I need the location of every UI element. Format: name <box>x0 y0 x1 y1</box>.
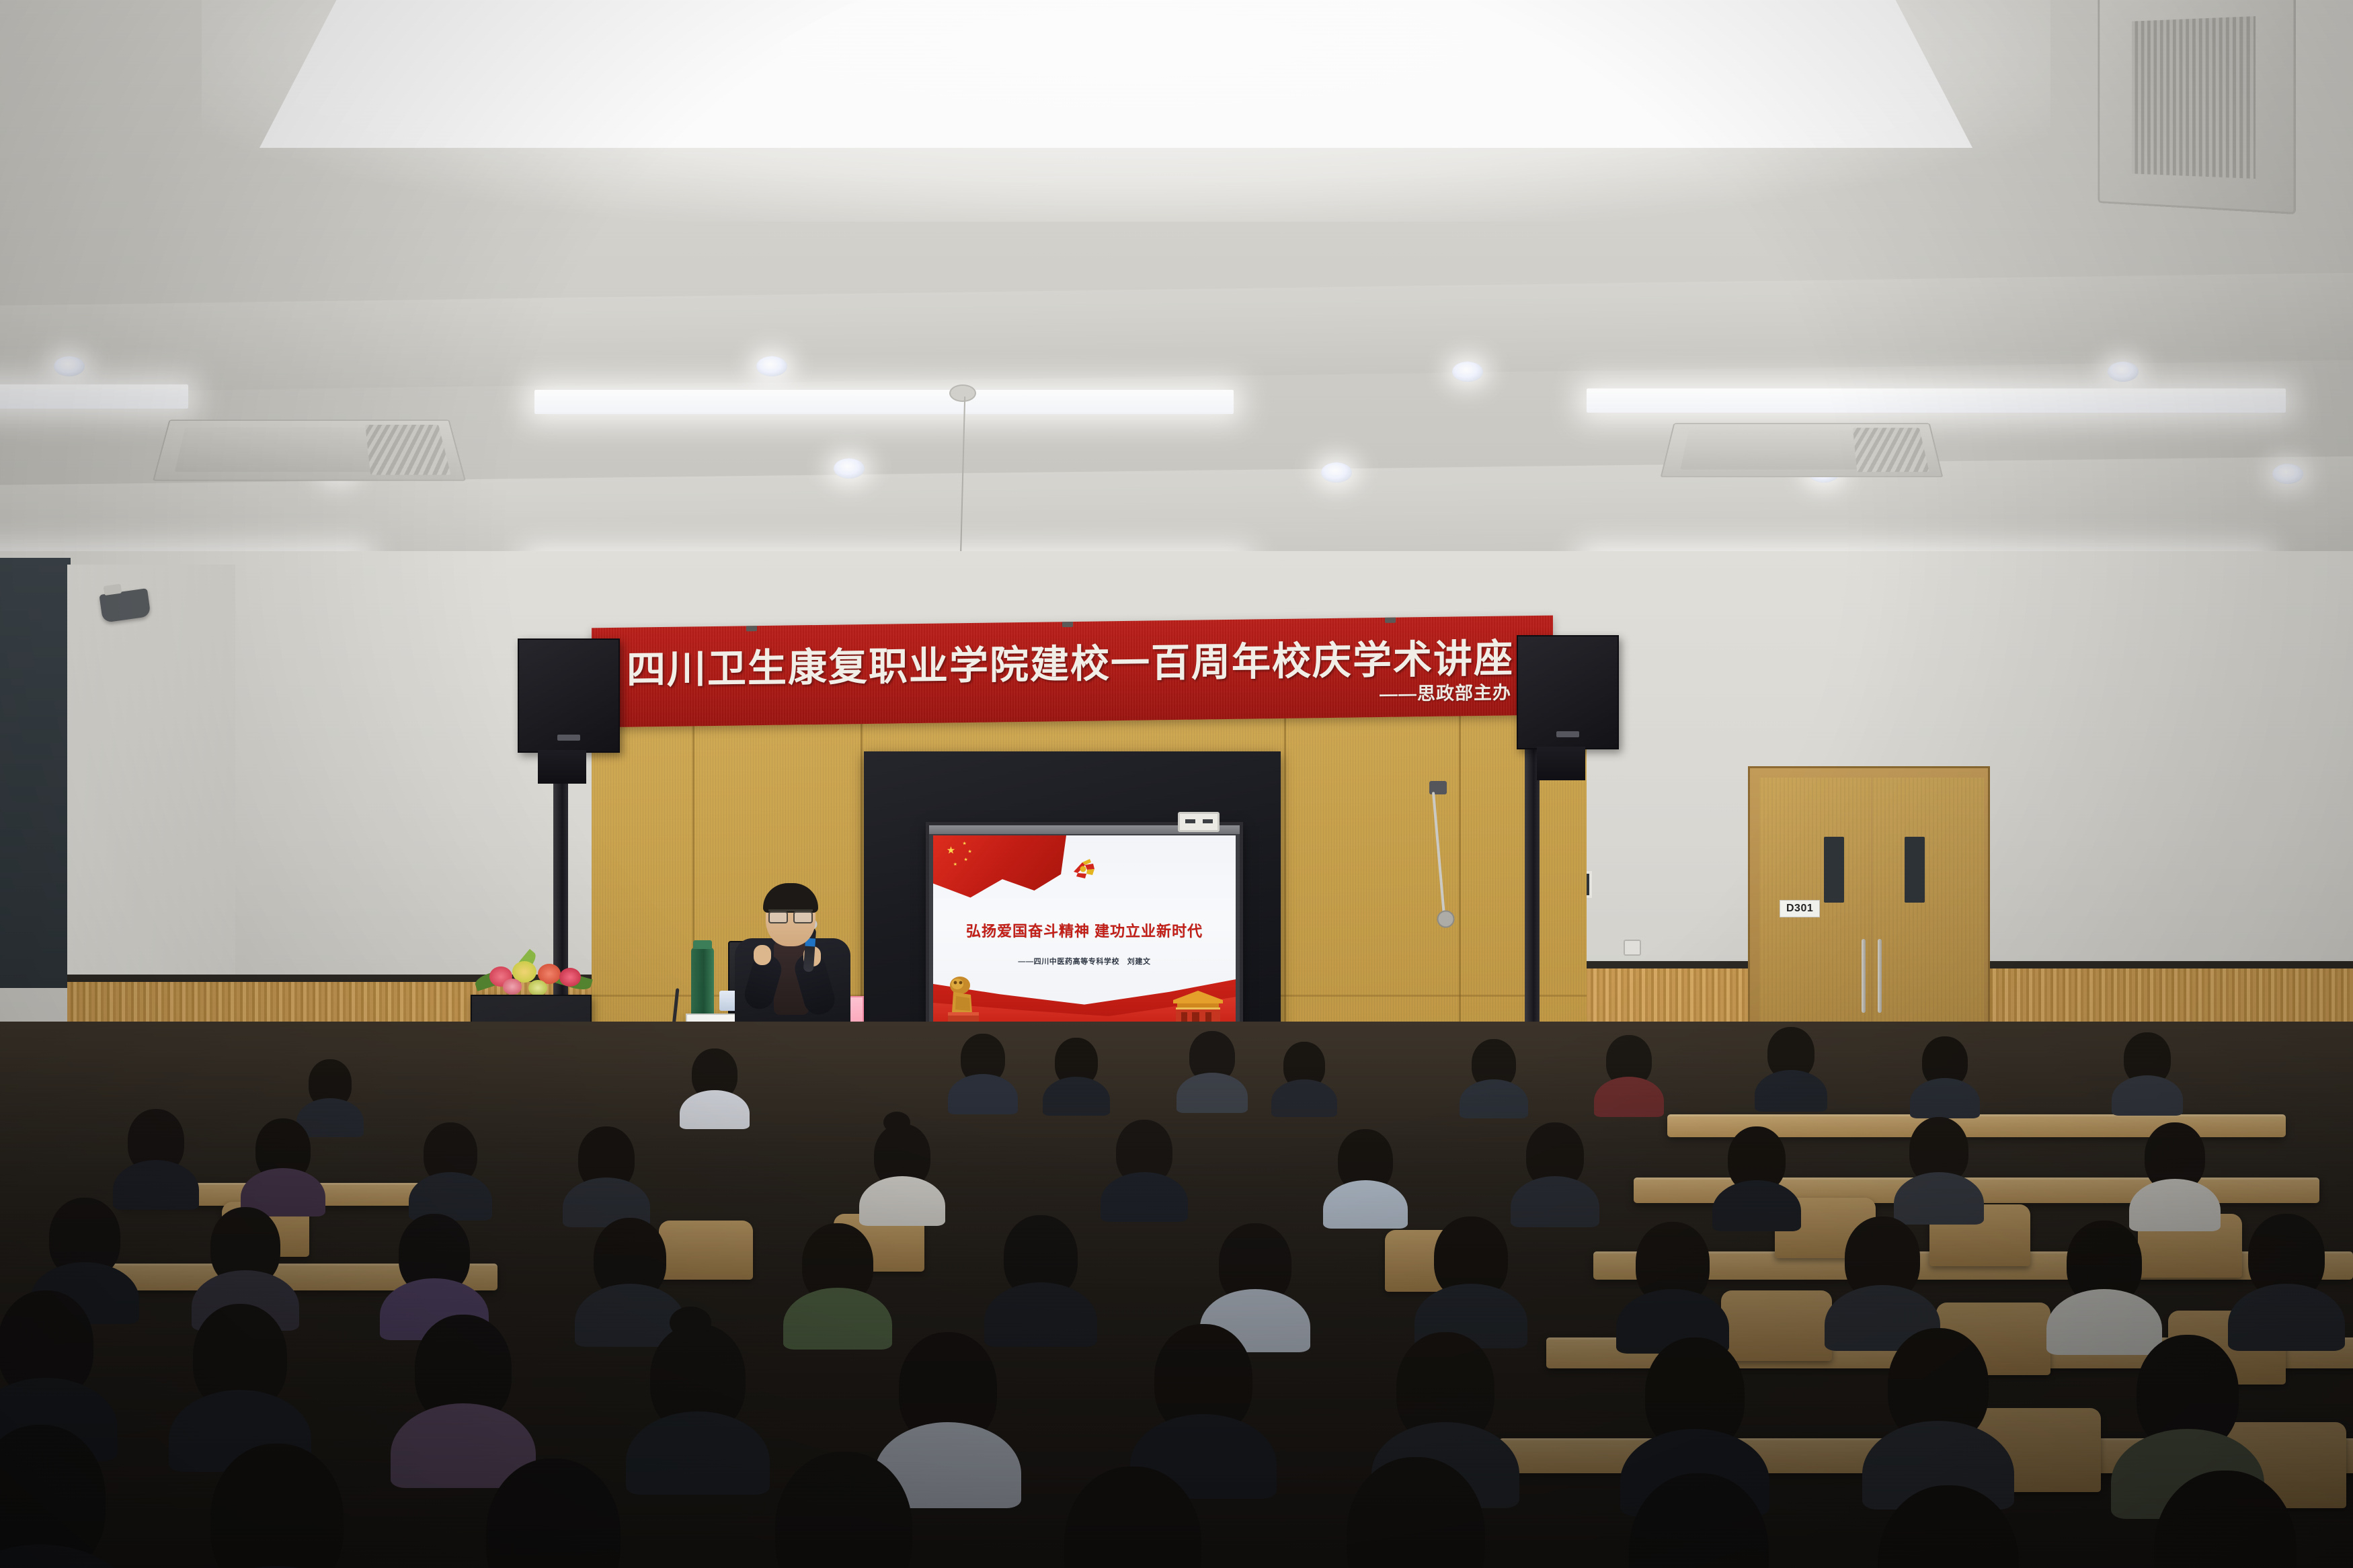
ceiling-downlight <box>2108 362 2139 382</box>
audience-member <box>471 1458 636 1568</box>
ceiling-soffit-band-1 <box>0 272 2353 394</box>
speaker-base <box>538 750 586 784</box>
audience-member <box>1600 1035 1658 1110</box>
flag-star-small: ★ <box>953 862 957 867</box>
door-window-pane <box>1905 837 1925 903</box>
person-shoulders <box>948 1074 1018 1114</box>
slide-title: 弘扬爱国奋斗精神 建功立业新时代 <box>933 919 1236 941</box>
door-handle[interactable] <box>1862 939 1866 1013</box>
flower-blossom <box>528 980 547 996</box>
audience-member <box>195 1444 359 1568</box>
audience-member <box>1903 1117 1975 1215</box>
audience-member <box>1331 1129 1400 1223</box>
audience-member <box>1331 1457 1501 1568</box>
audience-member <box>1049 1467 1217 1568</box>
person-head <box>210 1444 344 1568</box>
audience-member <box>995 1215 1086 1340</box>
ceiling-ac-vent <box>1661 423 1944 477</box>
ceiling-downlight <box>1452 362 1483 382</box>
person-shoulders <box>1323 1180 1408 1229</box>
flower-blossom <box>559 968 581 987</box>
speaker-base <box>1537 747 1585 780</box>
person-shoulders <box>1755 1070 1827 1112</box>
lecture-hall-photograph: 四川卫生康复职业学院建校一百周年校庆学术讲座 ——思政部主办 ★ ★ ★ ★ ★ <box>0 0 2353 1568</box>
person-shoulders <box>680 1090 750 1129</box>
wall-socket <box>1624 940 1641 956</box>
audience-member <box>1862 1485 2034 1568</box>
flag-star-small: ★ <box>967 849 971 854</box>
person-shoulders <box>2112 1075 2183 1116</box>
audience-member <box>1835 1216 1929 1344</box>
audience-member <box>639 1324 757 1487</box>
ac-vent-face <box>1680 430 1862 470</box>
audience-member <box>1109 1120 1179 1215</box>
person-head <box>1629 1473 1769 1568</box>
audience-member <box>2118 1032 2177 1109</box>
audience-member <box>1916 1036 1974 1112</box>
person-shoulders <box>626 1411 770 1495</box>
ceiling-light-strip <box>534 390 1234 414</box>
ceiling-ac-unit-top-right <box>2098 0 2296 214</box>
ac-vent-louvre <box>1853 428 1929 472</box>
audience-member <box>1519 1122 1591 1219</box>
audience-member <box>1143 1324 1264 1489</box>
presentation-slide: ★ ★ ★ ★ ★ 弘扬爱国奋斗精神 建功立业新时代 ——四川中医药高等专科学校… <box>933 835 1236 1026</box>
ceiling-downlight <box>834 458 865 479</box>
audience-member <box>1876 1328 2001 1499</box>
audience-member <box>121 1109 191 1203</box>
event-banner: 四川卫生康复职业学院建校一百周年校庆学术讲座 ——思政部主办 <box>592 616 1553 728</box>
audience-member <box>760 1452 928 1568</box>
audience-member <box>1277 1042 1331 1113</box>
speaker-brand-badge <box>557 735 580 741</box>
flag-star-small: ★ <box>963 841 967 846</box>
speaker-brand-badge <box>1556 731 1579 737</box>
projection-screen: ★ ★ ★ ★ ★ 弘扬爱国奋斗精神 建功立业新时代 ——四川中医药高等专科学校… <box>926 822 1243 1047</box>
person-head <box>775 1452 912 1568</box>
flower-blossom <box>503 979 522 995</box>
eyeglasses-icon <box>768 909 813 919</box>
presenter-hair <box>763 883 818 913</box>
audience-member <box>793 1223 882 1344</box>
outlet-slot <box>1203 819 1213 823</box>
ceiling <box>0 0 2353 638</box>
ceiling-wire-mount <box>949 384 976 402</box>
left-dark-window-panel <box>0 558 71 988</box>
wall-speaker-right <box>1517 635 1619 749</box>
audience-member <box>1049 1038 1104 1112</box>
ceiling-light-strip <box>1587 388 2286 413</box>
person-shoulders <box>1910 1078 1980 1118</box>
person-shoulders <box>783 1288 892 1350</box>
audience-member <box>0 1425 121 1568</box>
slide-subtitle: ——四川中医药高等专科学校 刘建文 <box>933 956 1236 966</box>
ceiling-ac-vent <box>153 420 466 481</box>
person-head <box>1878 1485 2019 1568</box>
person-shoulders <box>1176 1073 1248 1113</box>
door-window-pane <box>1824 837 1844 903</box>
door-room-number-label: D301 <box>1780 900 1820 917</box>
audience-member <box>1466 1039 1522 1113</box>
audience-member <box>417 1122 484 1214</box>
flag-star-small: ★ <box>964 857 968 862</box>
audience-member <box>571 1126 641 1221</box>
audience-member <box>955 1034 1011 1108</box>
person-shoulders <box>1712 1180 1801 1231</box>
audience-member <box>1425 1216 1517 1342</box>
audience-member <box>1761 1027 1821 1105</box>
ceiling-light-strip <box>0 384 188 409</box>
ceiling-downlight <box>756 356 787 376</box>
audience-member <box>182 1304 298 1464</box>
person-shoulders <box>1101 1172 1188 1222</box>
presenter-speaker <box>729 887 857 1042</box>
stone-lion-graphic <box>943 972 987 1024</box>
banner-subtitle: ——思政部主办 <box>1380 677 1511 706</box>
person-hair-bun <box>670 1307 711 1339</box>
left-wall-pillar <box>67 565 235 981</box>
tiananmen-gate-graphic <box>1169 987 1227 1024</box>
audience-member <box>2239 1214 2334 1343</box>
wall-power-outlet[interactable] <box>1178 812 1220 832</box>
person-shoulders <box>1511 1176 1599 1227</box>
presenter-left-hand <box>754 945 771 965</box>
person-shoulders <box>859 1176 945 1226</box>
wall-speaker-left <box>518 638 620 753</box>
person-head <box>2154 1471 2297 1568</box>
ac-vent-louvre <box>365 425 450 474</box>
person-shoulders <box>0 1544 138 1568</box>
thermos-bottle <box>691 948 714 1018</box>
ceiling-downlight <box>2272 464 2303 484</box>
party-emblem-icon <box>1069 854 1100 884</box>
person-head <box>1347 1457 1485 1568</box>
ceiling-downlight <box>1321 462 1352 483</box>
ac-vent-face <box>175 427 376 472</box>
person-shoulders <box>1594 1077 1664 1117</box>
audience-member <box>403 1315 523 1479</box>
audience-member <box>585 1218 675 1340</box>
audience-member <box>2057 1221 2151 1348</box>
flag-star-large: ★ <box>947 845 955 856</box>
audience-member <box>2138 1122 2212 1222</box>
person-shoulders <box>1460 1079 1528 1118</box>
audience-member <box>1613 1473 1784 1568</box>
ceiling-downlight <box>54 356 85 376</box>
person-shoulders <box>1043 1077 1110 1116</box>
audience-member <box>1721 1126 1792 1223</box>
person-hair-bun <box>883 1112 910 1133</box>
audience-member <box>2138 1471 2313 1568</box>
person-head <box>1064 1467 1201 1568</box>
audience-member <box>249 1118 317 1211</box>
person-shoulders <box>1271 1079 1337 1117</box>
audience-member <box>1627 1222 1718 1347</box>
chinese-flag-graphic: ★ ★ ★ ★ ★ <box>933 835 1066 906</box>
ac-grille <box>2132 16 2256 178</box>
outlet-slot <box>1185 819 1195 823</box>
flower-arrangement <box>471 941 598 1001</box>
door-handle[interactable] <box>1878 939 1882 1013</box>
audience-member <box>686 1048 744 1122</box>
audience-member <box>867 1124 937 1219</box>
person-head <box>486 1458 621 1568</box>
audience-member <box>1183 1031 1241 1106</box>
skylight-panel <box>242 0 1990 148</box>
audience-area <box>0 1022 2353 1568</box>
